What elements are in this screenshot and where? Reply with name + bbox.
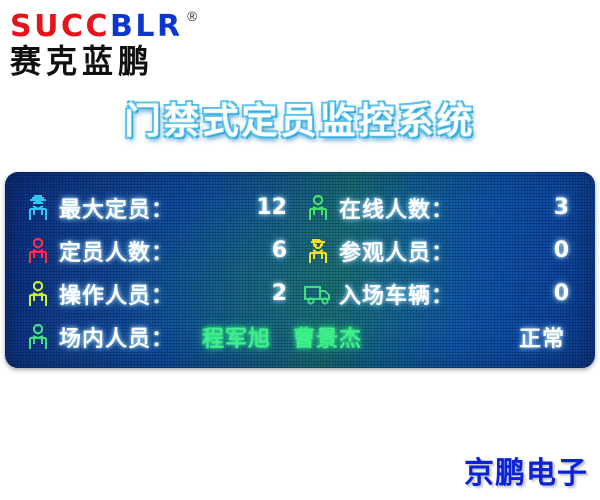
occupant-name-list: 程军旭 曹景杰 [202,321,362,353]
page-title: 门禁式定员监控系统 [0,92,600,144]
registered-trademark-icon: ® [186,10,199,25]
led-label: 定员人数： [59,235,174,267]
logo-wordmark-red: SUCC [10,9,110,44]
occupant-name: 程军旭 [202,321,271,353]
led-field-max-capacity: 最大定员： 12 [21,186,301,229]
led-field-visitor-count: 参观人员： 0 [301,229,579,272]
person-icon [21,278,55,310]
led-label: 最大定员： [59,192,174,224]
led-field-operator-count: 操作人员： 2 [21,272,301,315]
led-label-occupants: 场内人员： [59,321,174,353]
led-value: 3 [554,195,579,220]
status-badge: 正常 [519,321,579,353]
led-row: 操作人员： 2 入场车辆： 0 [21,272,579,315]
person-visitor-icon [301,235,335,267]
led-label: 参观人员： [339,235,454,267]
led-field-online-count: 在线人数： 3 [301,186,579,229]
led-value: 6 [272,238,301,263]
logo-wordmark-blue: BLR [110,9,183,44]
person-icon [21,235,55,267]
led-row-occupants: 场内人员： 程军旭 曹景杰 正常 [21,315,579,358]
company-logo: SUCCBLR® 赛克蓝鹏 [8,4,228,80]
led-row: 最大定员： 12 在线人数： 3 [21,186,579,229]
led-display-panel: 最大定员： 12 在线人数： 3 [5,172,595,368]
led-value: 0 [554,281,579,306]
led-value: 0 [554,238,579,263]
truck-icon [301,278,335,310]
led-display-grid: 最大定员： 12 在线人数： 3 [5,172,595,368]
led-field-vehicle-count: 入场车辆： 0 [301,272,579,315]
person-icon [21,321,55,353]
led-field-capacity-count: 定员人数： 6 [21,229,301,272]
footer-brand: 京鹏电子 [464,448,588,492]
led-label: 在线人数： [339,192,454,224]
occupant-name: 曹景杰 [293,321,362,353]
led-value: 12 [256,195,301,220]
led-label: 入场车辆： [339,278,454,310]
person-cap-icon [21,192,55,224]
logo-company-name-cn: 赛克蓝鹏 [10,42,228,82]
led-value: 2 [272,281,301,306]
person-icon [301,192,335,224]
led-row: 定员人数： 6 参观人员： [21,229,579,272]
led-label: 操作人员： [59,278,174,310]
logo-wordmark: SUCCBLR® [10,6,230,43]
